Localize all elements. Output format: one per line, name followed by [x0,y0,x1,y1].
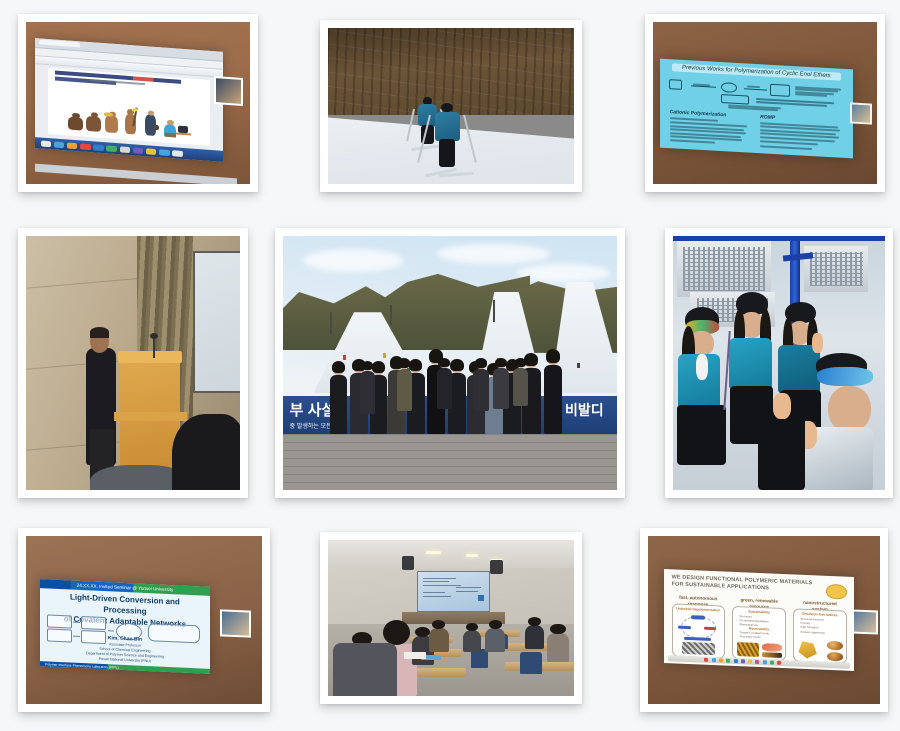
banner-left-subtext: 중 발생하는 모든 [290,421,332,430]
chair [520,652,542,674]
gondola-roof-bar [673,236,885,241]
photo-classroom-audience [328,540,574,696]
evolution-figure-hunter [121,106,139,135]
slide-title: WE DESIGN FUNCTIONAL POLYMERIC MATERIALS… [672,574,817,595]
projection-screen [417,571,491,612]
column3-bullet-4: Surface engineering [801,630,844,636]
overview-column-1: fast, autonomous response Unlocked depol… [672,603,725,658]
video-call-thumbnail [220,609,251,637]
column2-bullet2-2: Secondary bonds [740,635,783,641]
projection-screen [35,38,223,162]
ceiling-speaker-left [402,556,414,570]
photo-seminar-title-slide: 24.XX.XX, Invited Seminar @ Yonsei Unive… [26,536,262,704]
projected-slide: 24.XX.XX, Invited Seminar @ Yonsei Unive… [40,579,210,674]
student [525,615,545,649]
resort-building-3 [804,246,868,292]
banner-left-text: 부 사설 [290,399,336,420]
evolution-figure-hominid1 [85,110,102,132]
photo-frame-8[interactable] [320,532,582,704]
photo-chemistry-slide: Previous Works for Polymerization of Cyc… [653,22,877,184]
ceiling [328,540,574,568]
paved-plaza [283,434,617,490]
group-member [397,355,412,411]
student [429,618,449,652]
reaction-scheme [667,77,844,114]
video-call-thumbnail [214,76,243,106]
projected-slide: WE DESIGN FUNCTIONAL POLYMERIC MATERIALS… [664,569,854,671]
evolution-figure-office-worker [163,115,191,138]
gondola-tower-3 [493,300,495,323]
photo-collage: Previous Works for Polymerization of Cyc… [0,0,900,731]
student [547,621,569,662]
photo-projector-browser [26,22,250,184]
notebook-on-desk [404,652,426,658]
evolution-illustration [64,95,193,139]
column1-subheading: Unlocked depolymerization [673,607,724,613]
gondola-tower-2 [390,305,392,325]
student [485,618,505,652]
gondola-person-4-selfie [796,353,885,490]
photo-frame-3[interactable]: Previous Works for Polymerization of Cyc… [645,14,885,192]
projection-screen [193,251,240,393]
student [333,643,397,696]
column-romp: ROMP [760,114,843,154]
photo-frame-1[interactable] [18,14,258,192]
ceiling-speaker-right [490,560,502,574]
photo-frame-9[interactable]: WE DESIGN FUNCTIONAL POLYMERIC MATERIALS… [640,528,888,712]
microphone [153,337,155,358]
gondola-person-5-arm [758,393,809,490]
video-call-thumbnail [850,102,872,124]
gondola-tower-1 [330,312,332,335]
resort-building-1 [677,241,770,297]
photo-research-overview-slide: WE DESIGN FUNCTIONAL POLYMERIC MATERIALS… [648,536,880,704]
overview-column-2: green, renewable resource Sustainability… [733,606,786,661]
banner-right-text: 비발디 [565,400,604,420]
photo-frame-6[interactable] [665,228,893,498]
evolution-figure-ape [67,112,84,131]
photo-speaker-at-podium [26,236,240,490]
overview-column-3: nanostructured system Emulsion-free latt… [794,608,847,663]
browser-tab [39,39,80,47]
slide-header-text: 24.XX.XX, Invited Seminar @ Yonsei Unive… [77,583,174,592]
photo-frame-7[interactable]: 24.XX.XX, Invited Seminar @ Yonsei Unive… [18,528,270,712]
group-member [360,358,375,414]
evolution-figure-hominid2 [103,109,120,134]
group-member [330,358,347,434]
projected-slide: Previous Works for Polymerization of Cyc… [660,59,853,159]
slide-author-block: Kim, Chan Bin Associate Professor School… [49,633,202,666]
column-cationic-polymerization: Cationic Polymerization [669,109,750,149]
evolution-figure-businessman [142,106,159,136]
video-call-thumbnail [852,609,878,634]
student [463,621,480,652]
photo-frame-2[interactable] [320,20,582,192]
skier-front [434,103,461,172]
photo-ski-resort-group: 부 사설 중 발생하는 모든 비발디 [283,236,617,490]
university-logo-icon [826,584,847,599]
group-member [513,355,528,406]
audience-member [172,414,240,490]
group-member [437,355,452,408]
document-page [48,67,210,145]
group-member [493,355,508,408]
group-member [544,343,563,434]
photo-frame-5[interactable]: 부 사설 중 발생하는 모든 비발디 [275,228,625,498]
speaker-hair [90,327,109,337]
group-member [473,355,488,411]
photo-gondola-selfie [673,236,885,490]
photo-frame-4[interactable] [18,228,248,498]
photo-skiers-on-slope [328,28,574,184]
